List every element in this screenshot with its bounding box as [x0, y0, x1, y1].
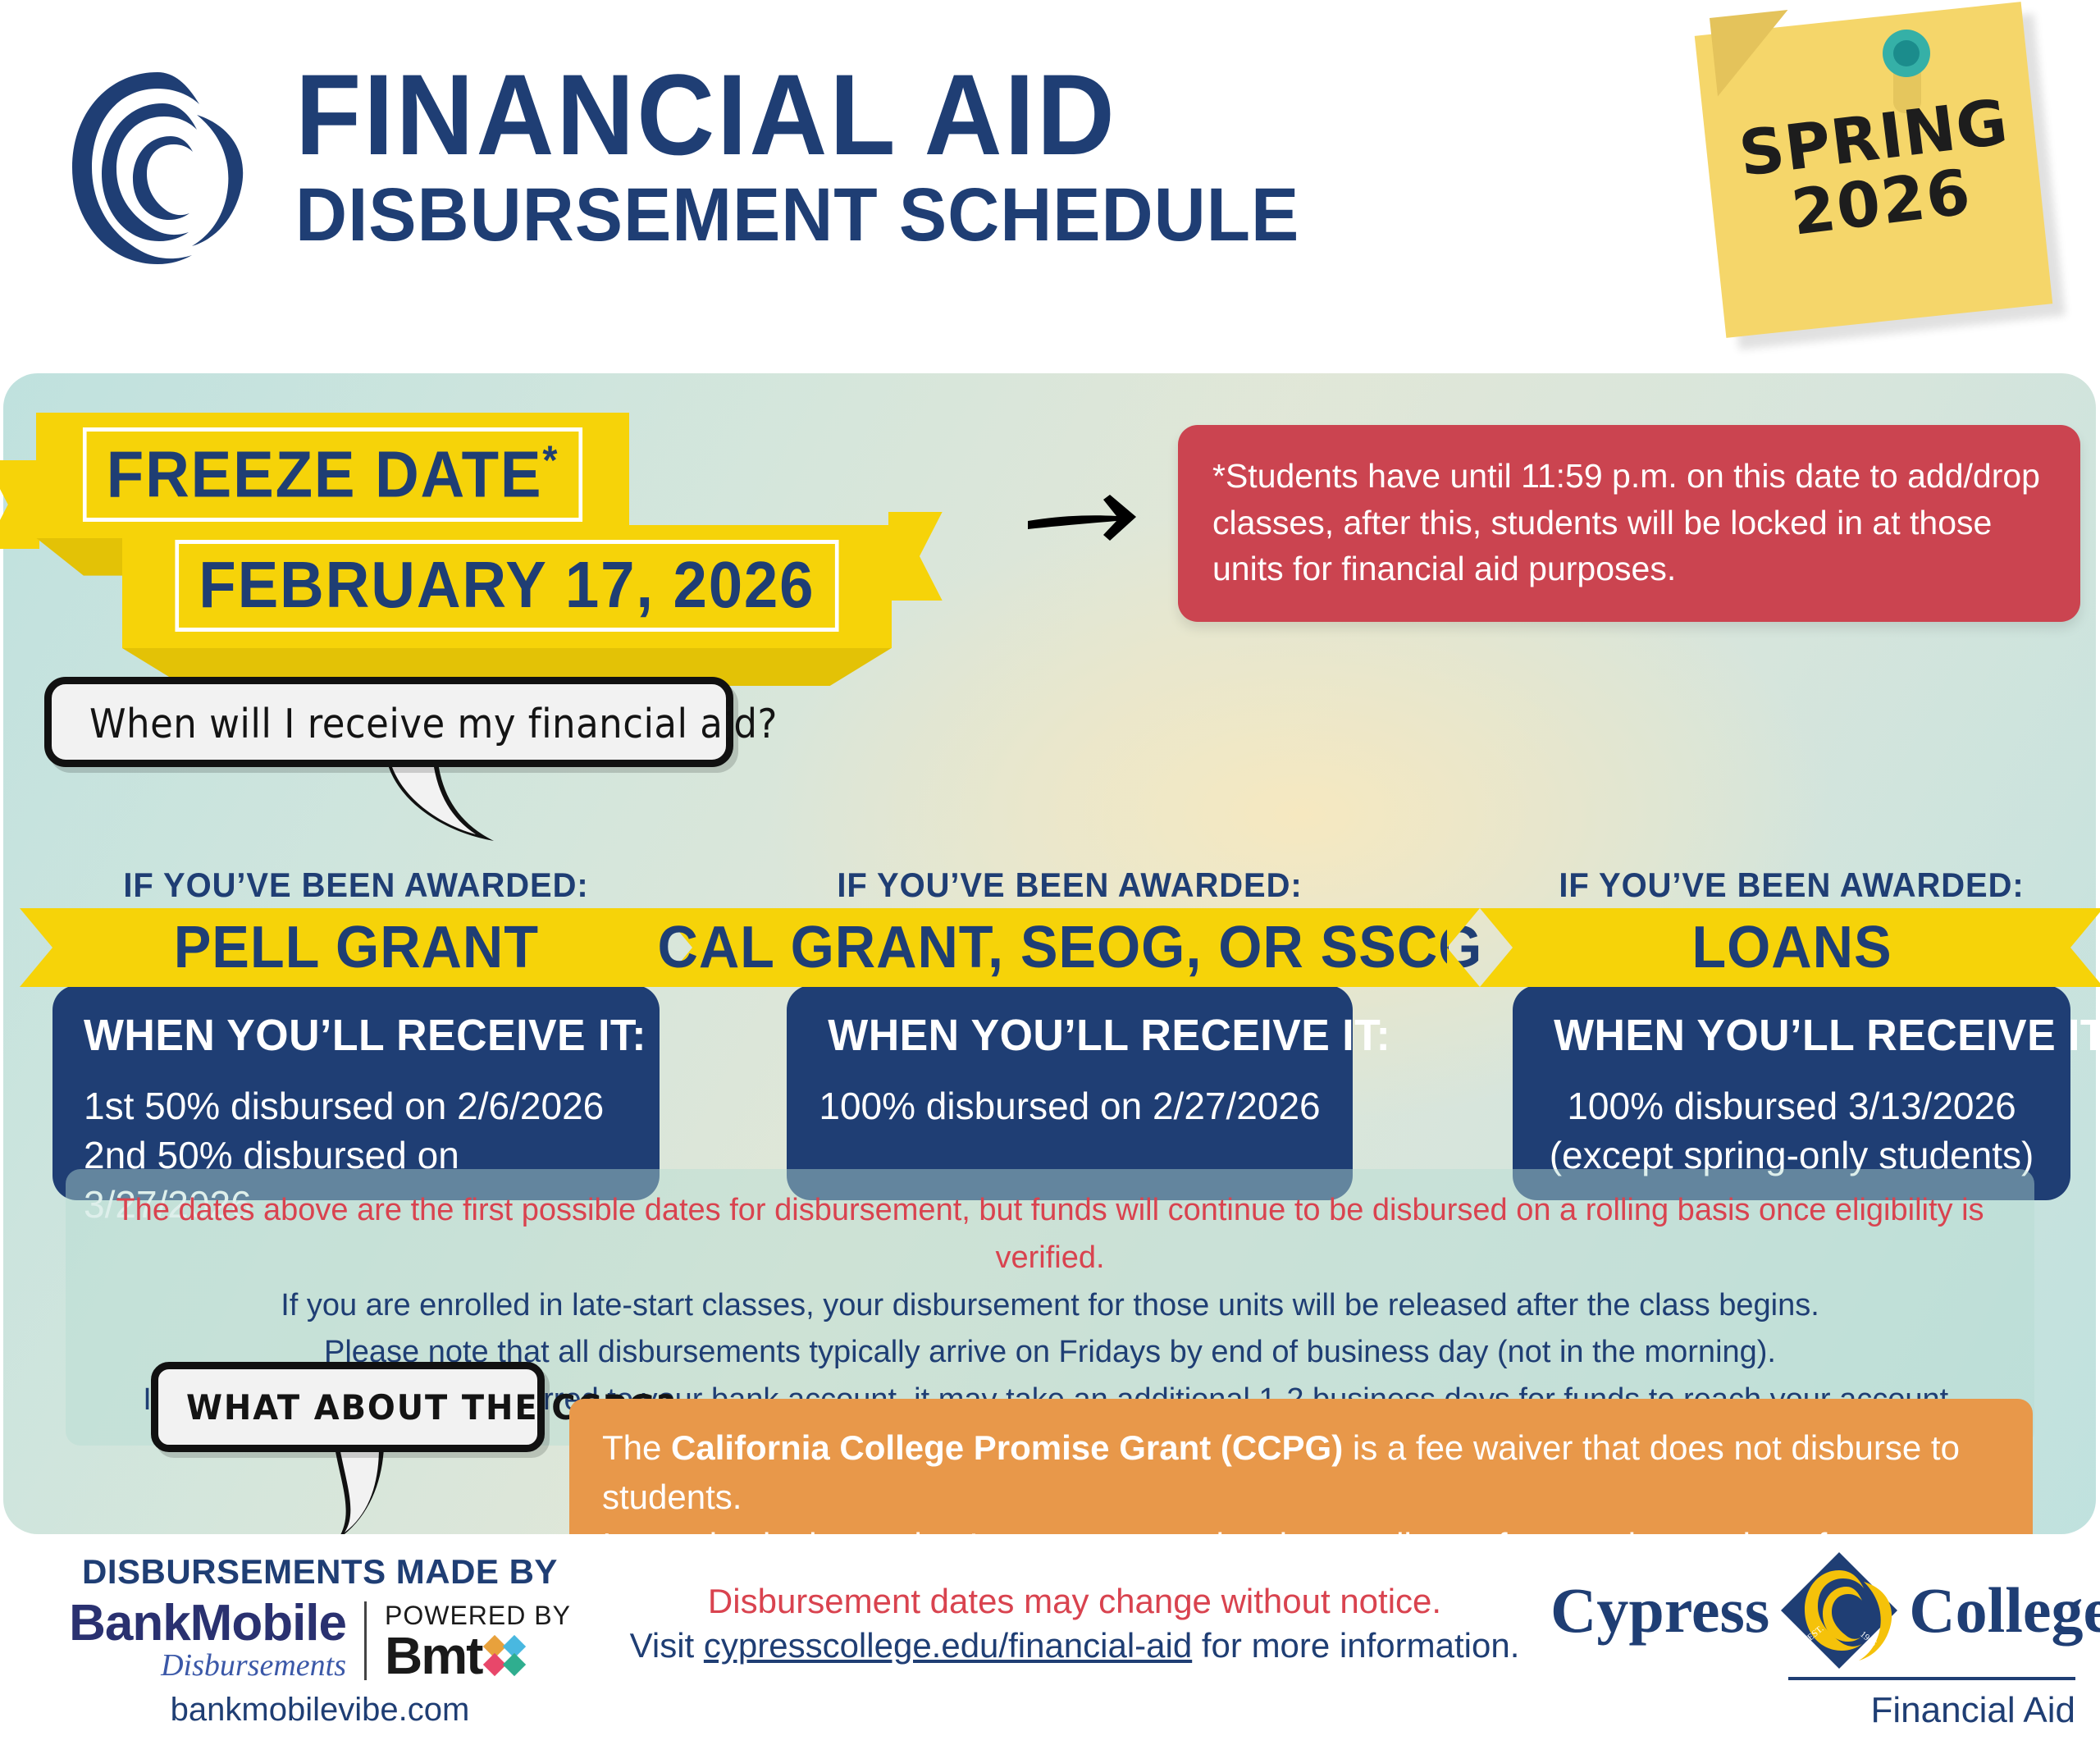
bubble-2-tail [323, 1444, 487, 1542]
ccpg-line-1-pre: The [602, 1428, 671, 1467]
logo-divider [364, 1601, 367, 1680]
bubble-2-box: WHAT ABOUT THE CCPG? [151, 1362, 545, 1452]
note-line-2: If you are enrolled in late-start classe… [82, 1282, 2018, 1330]
column-3-award-name: LOANS [1691, 914, 1892, 981]
bmt-wordmark: Bmt [385, 1631, 482, 1681]
column-2-card: WHEN YOU’LL RECEIVE IT: 100% disbursed o… [787, 985, 1353, 1200]
column-2-card-head: WHEN YOU’LL RECEIVE IT: [828, 1010, 1311, 1061]
question-bubble-1: When will I receive my financial aid? [44, 677, 758, 833]
financial-aid-swirl-icon [51, 66, 264, 271]
column-3-card: WHEN YOU’LL RECEIVE IT: 100% disbursed 3… [1513, 985, 2070, 1200]
financial-aid-department-label: Financial Aid [1788, 1677, 2075, 1731]
ribbon-tail-left [0, 460, 39, 549]
column-3-award-ribbon: LOANS [1513, 908, 2070, 987]
bmt-logo: POWERED BY Bmt [385, 1601, 571, 1681]
ribbon-tail-right [888, 512, 943, 601]
freeze-date-callout: *Students have until 11:59 p.m. on this … [1178, 425, 2080, 622]
freeze-date-value: FEBRUARY 17, 2026 [199, 548, 815, 621]
column-cal-grant: IF YOU’VE BEEN AWARDED: CAL GRANT, SEOG,… [692, 866, 1447, 1200]
bankmobile-sub: Disbursements [69, 1649, 346, 1683]
ccpg-line-1: The California College Promise Grant (CC… [602, 1423, 2000, 1521]
cypress-wordmark: Cypress [1550, 1578, 1769, 1642]
disbursements-made-by-label: DISBURSEMENTS MADE BY [66, 1552, 574, 1592]
sticky-note-fold [1710, 10, 1796, 97]
column-2-award-ribbon: CAL GRANT, SEOG, OR SSCG [692, 908, 1447, 987]
infographic-root: FINANCIAL AID DISBURSEMENT SCHEDULE SPRI… [0, 0, 2100, 1745]
freeze-date-value-ribbon: FEBRUARY 17, 2026 [122, 525, 892, 648]
column-1-award-name: PELL GRANT [173, 914, 538, 981]
footer-middle-note: Disbursement dates may change without no… [623, 1582, 1526, 1665]
column-2-award-name: CAL GRANT, SEOG, OR SSCG [657, 914, 1482, 981]
sticky-note: SPRING 2026 [1690, 3, 2084, 348]
column-1-eyebrow: IF YOU’VE BEEN AWARDED: [68, 866, 645, 905]
bankmobile-name: BankMobile [69, 1598, 346, 1649]
footer-visit-post: for more information. [1192, 1626, 1519, 1665]
title-block: FINANCIAL AID DISBURSEMENT SCHEDULE [295, 57, 1353, 255]
cypress-college-logo-block: Cypress EST. 1966 College Finan [1550, 1549, 2075, 1731]
column-1-card-head: WHEN YOU’LL RECEIVE IT: [84, 1010, 606, 1061]
bankmobile-url[interactable]: bankmobilevibe.com [66, 1692, 574, 1729]
freeze-date-callout-text: *Students have until 11:59 p.m. on this … [1212, 457, 2040, 587]
college-wordmark: College [1909, 1578, 2100, 1642]
freeze-asterisk: * [542, 437, 559, 483]
page-subtitle: DISBURSEMENT SCHEDULE [295, 176, 1299, 255]
column-loans: IF YOU’VE BEEN AWARDED: LOANS WHEN YOU’L… [1513, 866, 2070, 1200]
freeze-date-ribbon: FREEZE DATE* [36, 413, 629, 538]
main-panel: FREEZE DATE* FEBRUARY 17, 2026 [3, 373, 2096, 1534]
column-3-line-1: 100% disbursed 3/13/2026 [1544, 1082, 2039, 1131]
question-text-1: When will I receive my financial aid? [89, 701, 778, 747]
question-bubble-2: WHAT ABOUT THE CCPG? [151, 1362, 577, 1534]
bankmobile-block: DISBURSEMENTS MADE BY BankMobile Disburs… [66, 1552, 574, 1729]
note-line-1: The dates above are the first possible d… [82, 1187, 2018, 1282]
header: FINANCIAL AID DISBURSEMENT SCHEDULE SPRI… [0, 0, 2100, 373]
bankmobile-logos: BankMobile Disbursements POWERED BY Bmt [66, 1598, 574, 1683]
column-1-card: WHEN YOU’LL RECEIVE IT: 1st 50% disburse… [52, 985, 660, 1200]
push-pin-icon [1883, 30, 1930, 77]
column-1-award-ribbon: PELL GRANT [52, 908, 660, 987]
bubble-1-box: When will I receive my financial aid? [44, 677, 733, 767]
page-title: FINANCIAL AID [295, 57, 1289, 172]
column-1-line-1: 1st 50% disbursed on 2/6/2026 [84, 1082, 628, 1131]
column-2-eyebrow: IF YOU’VE BEEN AWARDED: [711, 866, 1428, 905]
footer-visit-pre: Visit [630, 1626, 704, 1665]
bubble-1-tail [372, 759, 586, 849]
arrow-right-icon [1025, 488, 1139, 546]
footer: DISBURSEMENTS MADE BY BankMobile Disburs… [0, 1534, 2100, 1745]
footer-visit-line: Visit cypresscollege.edu/financial-aid f… [623, 1626, 1526, 1665]
column-3-card-head: WHEN YOU’LL RECEIVE IT: [1554, 1010, 2029, 1061]
cypress-diamond-icon: EST. 1966 [1778, 1549, 1901, 1672]
financial-aid-link[interactable]: cypresscollege.edu/financial-aid [704, 1626, 1192, 1665]
bmt-diamond-icon [486, 1638, 524, 1673]
column-2-line-1: 100% disbursed on 2/27/2026 [818, 1082, 1322, 1131]
freeze-date-label: FREEZE DATE [107, 438, 543, 511]
column-3-eyebrow: IF YOU’VE BEEN AWARDED: [1527, 866, 2057, 905]
bankmobile-logo: BankMobile Disbursements [69, 1598, 346, 1683]
column-pell-grant: IF YOU’VE BEEN AWARDED: PELL GRANT WHEN … [52, 866, 660, 1200]
footer-disclaimer: Disbursement dates may change without no… [623, 1582, 1526, 1621]
ccpg-line-1-bold: California College Promise Grant (CCPG) [671, 1428, 1343, 1467]
